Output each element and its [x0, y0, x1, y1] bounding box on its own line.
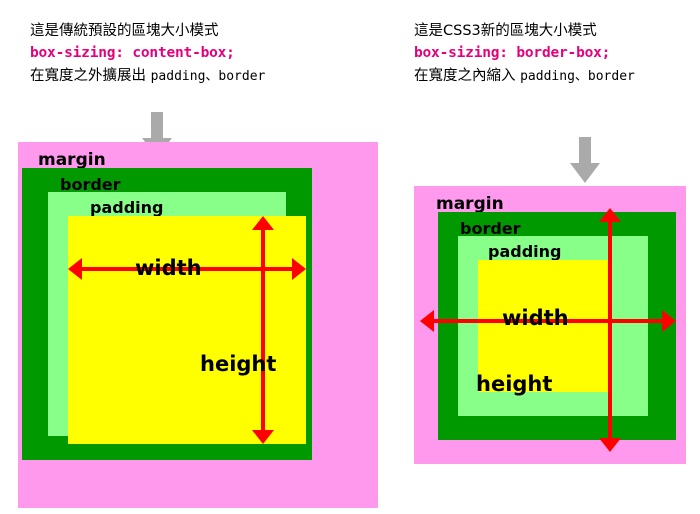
arrow-head-bottom [252, 430, 274, 444]
vertical-double-arrow-icon [248, 216, 278, 444]
vertical-double-arrow-icon [595, 208, 625, 452]
height-label: height [476, 372, 552, 396]
content-box-diagram: margin border padding width height [0, 0, 400, 514]
padding-label: padding [90, 198, 163, 217]
padding-label: padding [488, 242, 561, 261]
arrow-head-right [662, 310, 676, 332]
width-label: width [502, 306, 569, 330]
arrow-head-right [292, 258, 306, 280]
content-box-panel: 這是傳統預設的區塊大小模式 box-sizing: content-box; 在… [0, 0, 400, 514]
arrow-head-bottom [599, 438, 621, 452]
border-box-diagram: margin border padding width height [400, 0, 700, 514]
width-label: width [135, 256, 202, 280]
arrow-shaft-vertical [608, 218, 612, 442]
margin-label: margin [436, 194, 504, 214]
height-label: height [200, 352, 276, 376]
arrow-shaft-vertical [261, 226, 265, 434]
margin-label: margin [38, 150, 106, 170]
border-box-panel: 這是CSS3新的區塊大小模式 box-sizing: border-box; 在… [400, 0, 700, 514]
